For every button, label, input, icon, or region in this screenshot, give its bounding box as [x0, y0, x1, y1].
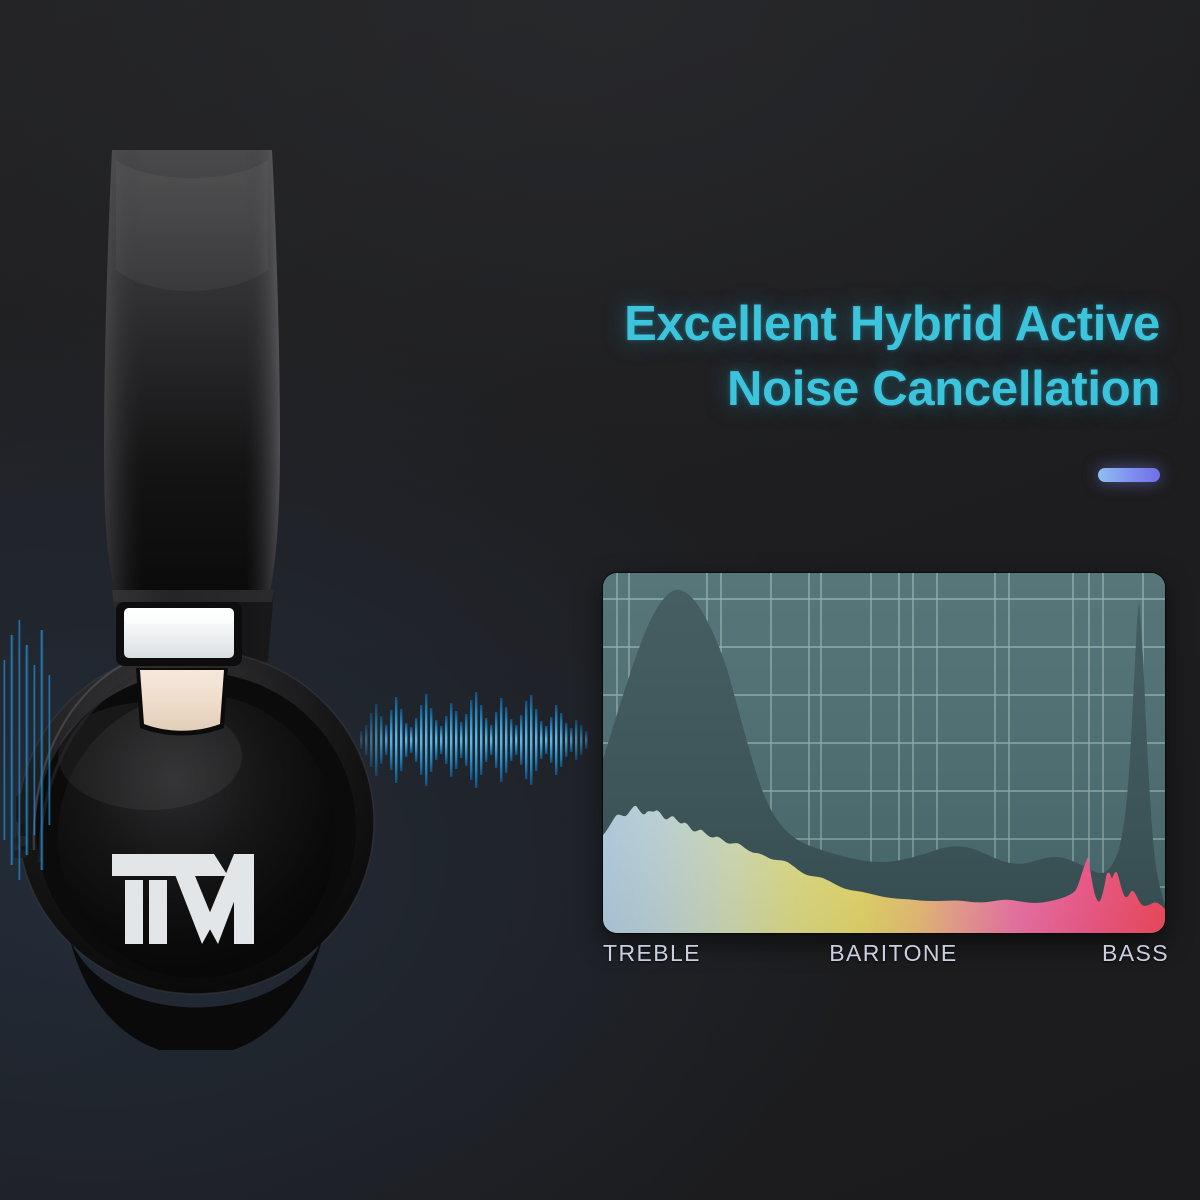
- spectrum-axis-labels: TREBLE BARITONE BASS: [603, 936, 1169, 970]
- headband-slider-plate: [116, 602, 242, 666]
- spectrum-chart-svg: [603, 573, 1165, 933]
- spectrum-chart: [603, 573, 1165, 933]
- left-soundwave-group: [0, 620, 51, 880]
- page-title: Excellent Hybrid Active Noise Cancellati…: [480, 292, 1160, 421]
- headphones-illustration: [0, 150, 420, 1050]
- spectrum-analyzer-panel: [603, 573, 1165, 933]
- headband: [104, 150, 280, 602]
- headband-connector-plate: [136, 668, 228, 736]
- promo-banner: Excellent Hybrid Active Noise Cancellati…: [0, 0, 1200, 1200]
- soundwave-bars: [358, 665, 608, 815]
- axis-label-baritone: BARITONE: [829, 940, 957, 967]
- left-edge-soundwave: [0, 600, 56, 900]
- left-soundwave-bars: [0, 600, 56, 900]
- accent-pill-divider: [1098, 468, 1160, 482]
- soundwave-transmission: [358, 665, 608, 815]
- axis-label-bass: BASS: [1102, 940, 1169, 967]
- headphones-product-image: [0, 150, 420, 1050]
- soundwave-bar-group: [360, 692, 587, 788]
- axis-label-treble: TREBLE: [603, 940, 701, 967]
